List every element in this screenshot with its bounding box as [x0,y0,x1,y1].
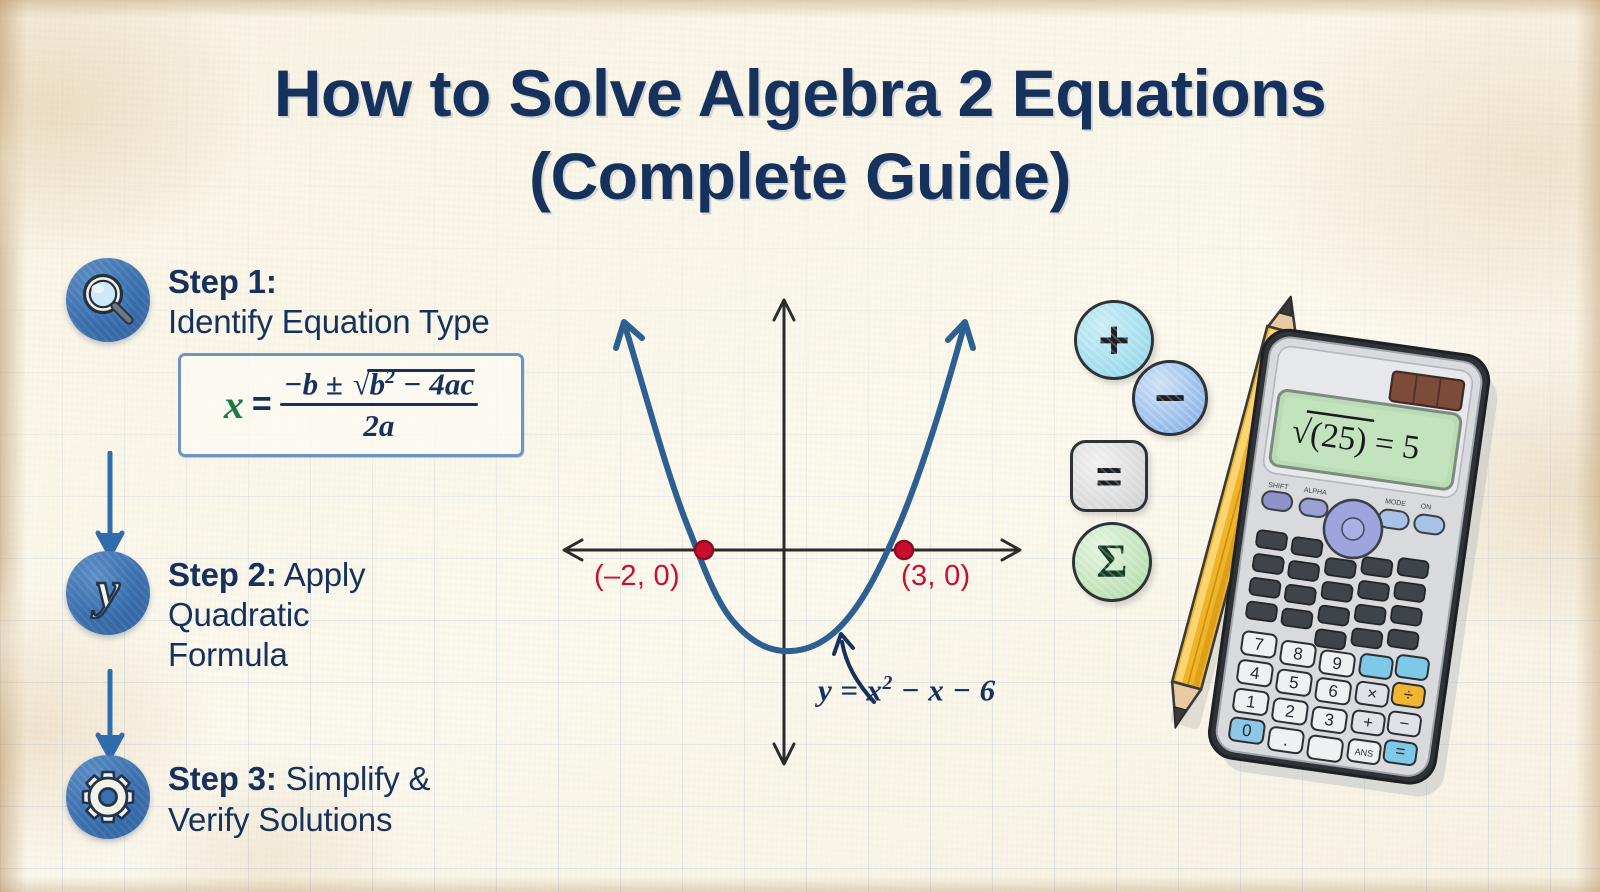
quadratic-formula-card: x = −b ± √b2 − 4ac 2a [178,353,524,457]
formula-denominator: 2a [363,406,394,441]
formula-equals: = [252,385,272,424]
parabola-chart: (–2, 0) (3, 0) y = x2 − x − 6 [556,282,1056,782]
step-3-sub-b: Verify Solutions [168,800,430,840]
equation-exponent: 2 [882,672,892,694]
root-label-right: (3, 0) [901,560,971,593]
radical-group: √b2 − 4ac [351,368,474,399]
page-title: How to Solve Algebra 2 Equations (Comple… [0,52,1600,218]
magnifier-icon [66,258,150,342]
paper-edge-bottom [0,876,1600,892]
step-1-sub: Identify Equation Type [168,302,490,342]
step-2-label: Step 2: Apply [168,555,365,595]
title-line-2: (Complete Guide) [0,135,1600,218]
equation-head: y = x [818,672,882,707]
formula-variable: x [224,381,244,428]
step-3-label: Step 3: Simplify & [168,759,430,799]
step-item-1: Step 1: Identify Equation Type [66,258,596,343]
step-item-2: y Step 2: Apply Quadratic Formula [66,551,596,676]
step-3-sub-a: Simplify & [277,760,431,797]
step-2-text: Step 2: Apply Quadratic Formula [168,551,365,676]
steps-list: Step 1: Identify Equation Type x = −b ± … [66,258,596,840]
gear-icon [66,755,150,839]
step-2-label-bold: Step 2: [168,556,277,593]
infographic-poster: How to Solve Algebra 2 Equations (Comple… [0,0,1600,892]
equation-tail: − x − 6 [893,672,996,707]
vinculum [367,369,475,372]
y-glyph: y [96,565,119,617]
curve-equation-annotation: y = x2 − x − 6 [818,672,996,708]
title-line-1: How to Solve Algebra 2 Equations [0,52,1600,135]
letter-y-icon: y [66,551,150,635]
scientific-calculator: √(25) = 5 SHIFT ALPHA MODE ON [1208,330,1508,800]
paper-edge-left [0,0,26,892]
step-3-text: Step 3: Simplify & Verify Solutions [168,755,430,840]
step-item-3: Step 3: Simplify & Verify Solutions [66,755,596,840]
formula-numerator: −b ± √b2 − 4ac [280,368,478,402]
paper-edge-right [1576,0,1600,892]
step-1-label: Step 1: [168,262,490,302]
step-3-label-bold: Step 3: [168,760,277,797]
step-2-sub-a: Apply [277,556,366,593]
step-2-sub-b: Quadratic [168,595,365,635]
step-1-text: Step 1: Identify Equation Type [168,258,490,343]
formula-fraction: −b ± √b2 − 4ac 2a [280,368,478,440]
step-2-sub-c: Formula [168,635,365,675]
connector-arrow-1 [100,457,120,557]
paper-edge-top [0,0,1600,18]
connector-arrow-2 [100,675,120,759]
svg-text:ON: ON [1420,503,1431,511]
root-label-left: (–2, 0) [594,560,680,593]
formula-numerator-lead: −b ± [284,367,351,402]
